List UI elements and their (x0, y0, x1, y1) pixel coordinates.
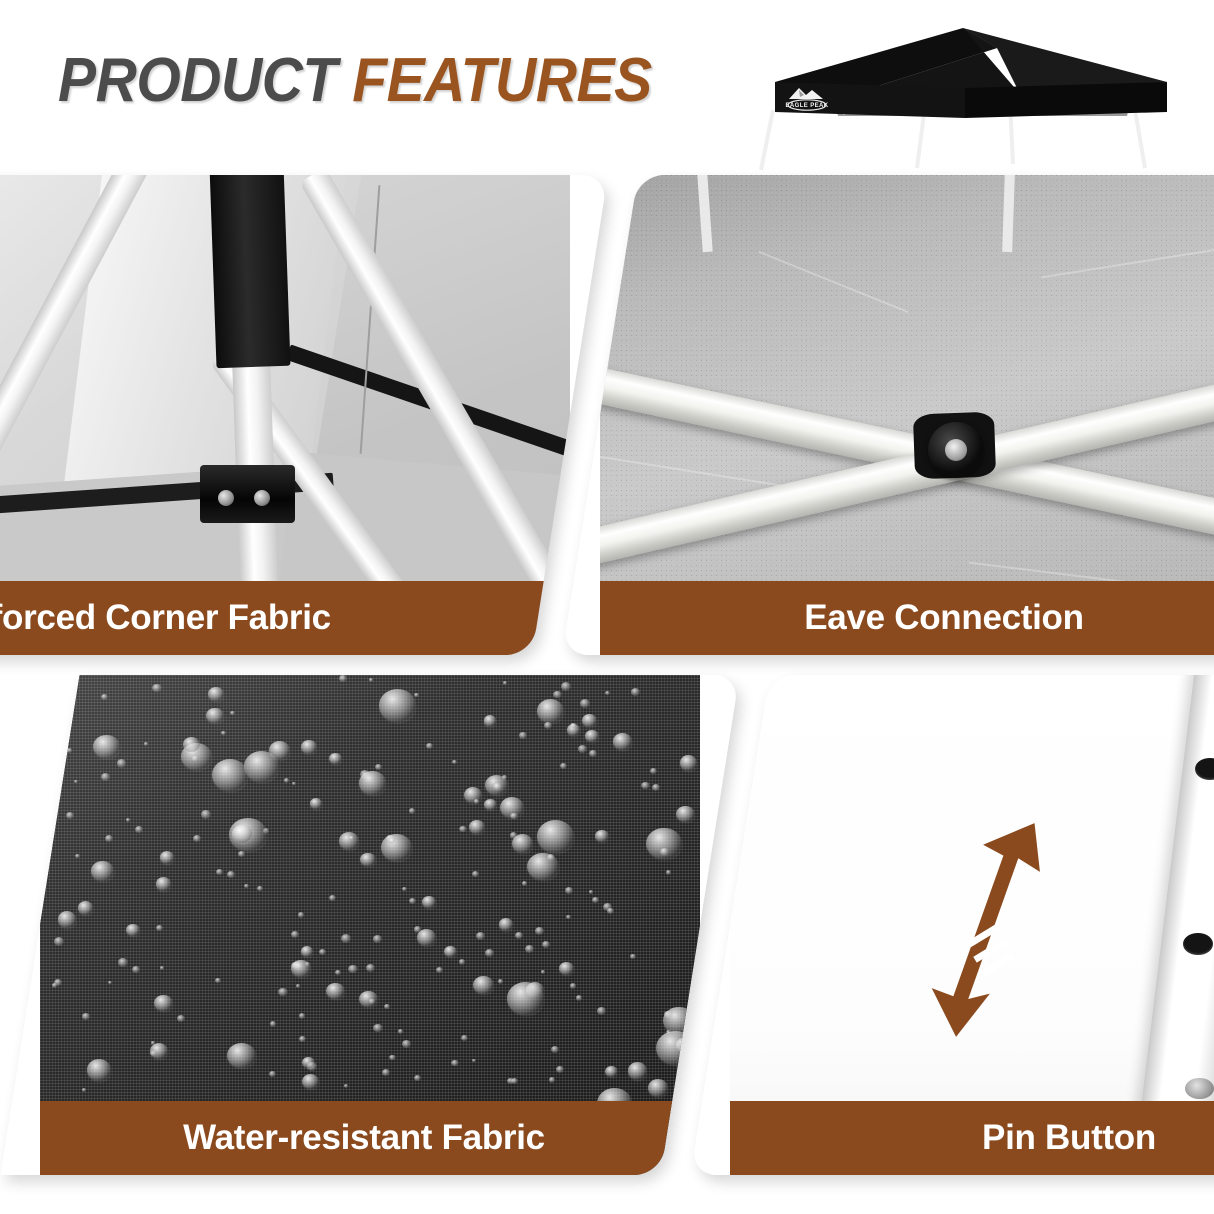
feature-card-water-resistant-fabric[interactable]: Water-resistant Fabric (0, 675, 739, 1175)
pivot-bolt-icon (928, 422, 984, 478)
feature-card-grid: Reinforced Corner Fabric Eave Connection (0, 170, 1214, 1214)
page-title-part1: PRODUCT (58, 46, 337, 115)
feature-caption-text: Water-resistant Fabric (183, 1118, 545, 1158)
feature-caption-text: Pin Button (982, 1118, 1156, 1158)
corner-bracket-icon (200, 465, 296, 523)
water-resistant-fabric-photo (40, 675, 700, 1175)
feature-caption-bar: Pin Button (730, 1101, 1214, 1175)
feature-card-eave-connection[interactable]: Eave Connection (562, 175, 1214, 655)
feature-caption-text: Eave Connection (804, 598, 1083, 638)
svg-text:EAGLE PEAK: EAGLE PEAK (785, 103, 828, 109)
feature-caption-bar: Water-resistant Fabric (40, 1101, 700, 1175)
page-title: PRODUCT FEATURES (58, 46, 758, 116)
feature-caption-text: Reinforced Corner Fabric (0, 598, 331, 638)
pin-button-screw-icon (1185, 1078, 1213, 1099)
feature-caption-bar: Reinforced Corner Fabric (0, 581, 570, 655)
pin-button-photo (730, 675, 1214, 1175)
double-arrow-icon (872, 815, 1110, 1045)
feature-card-reinforced-corner-fabric[interactable]: Reinforced Corner Fabric (0, 175, 608, 655)
feature-caption-bar: Eave Connection (600, 581, 1214, 655)
feature-card-pin-button[interactable]: Pin Button (690, 675, 1214, 1175)
pin-hole-lower-icon (1183, 933, 1213, 956)
canopy-leg-pole (1126, 675, 1214, 1175)
canopy-hero-image: EAGLE PEAK (735, 18, 1205, 188)
page-title-part2: FEATURES (352, 46, 651, 115)
